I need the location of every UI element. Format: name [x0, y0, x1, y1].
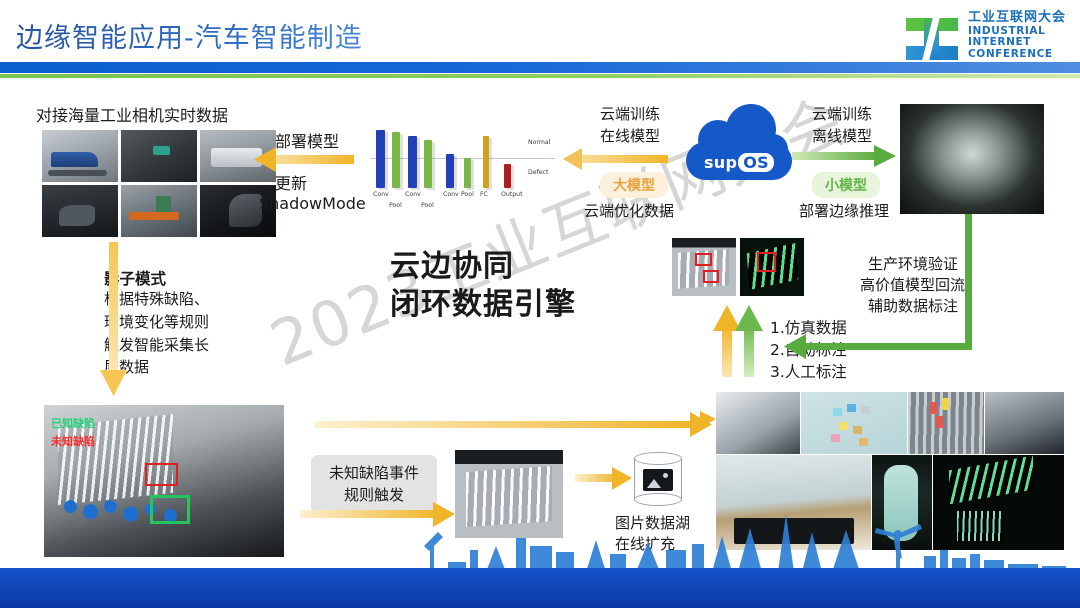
camera-data-caption: 对接海量工业相机实时数据 — [36, 104, 228, 127]
tag-known-defect: 已知缺陷 — [51, 415, 95, 431]
cloud-optimized-data-label: 云端优化数据 — [584, 201, 674, 223]
logo-title-en-3: CONFERENCE — [968, 49, 1066, 61]
shadow-mode-body: 根据特殊缺陷、 环境变化等规则 触发智能采集长 尾数据 — [104, 288, 209, 379]
cnn-layer-output-7 — [504, 164, 511, 188]
tag-unknown-defect: 未知缺陷 — [51, 433, 95, 449]
arrow-labeling-up — [735, 305, 763, 377]
cnn-layer-label-2: Conv — [405, 191, 421, 198]
photo-engine-inspection — [900, 104, 1044, 214]
cnn-output-normal: Normal — [528, 139, 550, 146]
cloud-train-offline-line1: 云端训练 — [812, 104, 872, 126]
cnn-diagram: ConvPoolConvPoolConvPoolFCOutput Normal … — [370, 112, 555, 210]
note-model-feedback: 高价值模型回流 — [860, 275, 965, 297]
photo-sample-greenstripe — [740, 238, 804, 296]
deploy-model-label: 部署模型 — [275, 130, 339, 153]
photo-dark-part — [42, 185, 118, 237]
footer-band — [0, 568, 1080, 608]
arrow-simulated-data-up — [713, 305, 741, 377]
cnn-layer-label-5: Pool — [461, 191, 474, 198]
arrow-cloud-to-edge-model — [792, 145, 896, 167]
annotation-item-2: 2.自动标注 — [770, 339, 847, 361]
supos-cloud-logo: supOS — [686, 118, 792, 180]
cnn-layer-label-0: Conv — [373, 191, 389, 198]
detection-box-red — [145, 463, 179, 486]
cnn-layer-conv-0 — [376, 130, 385, 188]
cloud-train-online-line2: 在线模型 — [600, 126, 660, 148]
cnn-layer-pool-1 — [392, 132, 400, 188]
conference-logo: 工业互联网大会 INDUSTRIAL INTERNET CONFERENCE — [904, 8, 1066, 64]
note-data-labeling: 辅助数据标注 — [868, 296, 958, 318]
shadowmode-label: ShadowMode — [259, 192, 366, 215]
center-headline: 云边协同 闭环数据引擎 — [390, 248, 576, 325]
photo-underbody — [121, 130, 197, 182]
photo-sample-gray — [672, 238, 736, 296]
detection-box-red — [695, 253, 712, 266]
title-divider-green — [0, 74, 1080, 78]
slide-root: 边缘智能应用-汽车智能制造 工业互联网大会 INDUSTRIAL INTERNE… — [0, 0, 1080, 608]
collage-photo-4 — [985, 392, 1064, 454]
arrow-into-collage — [700, 411, 716, 428]
note-production-validation: 生产环境验证 — [868, 254, 958, 276]
cnn-output-defect: Defect — [528, 169, 548, 176]
badge-large-model: 大模型 — [600, 172, 668, 198]
cnn-layer-label-4: Conv — [443, 191, 459, 198]
logo-text: 工业互联网大会 INDUSTRIAL INTERNET CONFERENCE — [968, 11, 1066, 61]
arrow-sample-to-datalake — [575, 467, 632, 490]
cnn-layer-pool-3 — [424, 140, 432, 188]
arrow-cloud-to-edge — [563, 148, 668, 170]
cnn-layer-label-7: Output — [501, 191, 523, 198]
photo-truck-blue — [42, 130, 118, 182]
cloud-train-online-line1: 云端训练 — [600, 104, 660, 126]
photo-assembly-line — [121, 185, 197, 237]
cnn-layer-pool-5 — [464, 158, 471, 188]
annotation-item-3: 3.人工标注 — [770, 361, 847, 383]
collage-photo-2 — [801, 392, 907, 454]
cnn-layer-fc-6 — [483, 136, 489, 188]
deploy-edge-inference-label: 部署边缘推理 — [799, 201, 889, 223]
supos-brand-text: supOS — [686, 153, 792, 172]
footer-skyline — [0, 506, 1080, 572]
badge-small-model: 小模型 — [812, 172, 880, 198]
cnn-layer-conv-4 — [446, 154, 454, 188]
arrow-data-to-collage — [315, 412, 712, 437]
page-title: 边缘智能应用-汽车智能制造 — [16, 16, 363, 55]
cnn-layer-label-6: FC — [480, 191, 488, 198]
image-data-lake-icon — [634, 452, 682, 508]
logo-mark-icon — [904, 8, 960, 64]
cloud-train-offline-line2: 离线模型 — [812, 126, 872, 148]
detection-box-red — [757, 252, 776, 272]
collage-photo-1 — [716, 392, 800, 454]
cnn-layer-conv-2 — [408, 136, 417, 188]
cnn-layer-label-1: Pool — [389, 202, 402, 209]
cnn-layer-label-3: Pool — [421, 202, 434, 209]
photo-truck-white — [200, 130, 276, 182]
annotation-item-1: 1.仿真数据 — [770, 317, 847, 339]
logo-title-cn: 工业互联网大会 — [968, 11, 1066, 26]
collage-photo-3 — [908, 392, 984, 454]
detection-box-red — [703, 270, 720, 283]
